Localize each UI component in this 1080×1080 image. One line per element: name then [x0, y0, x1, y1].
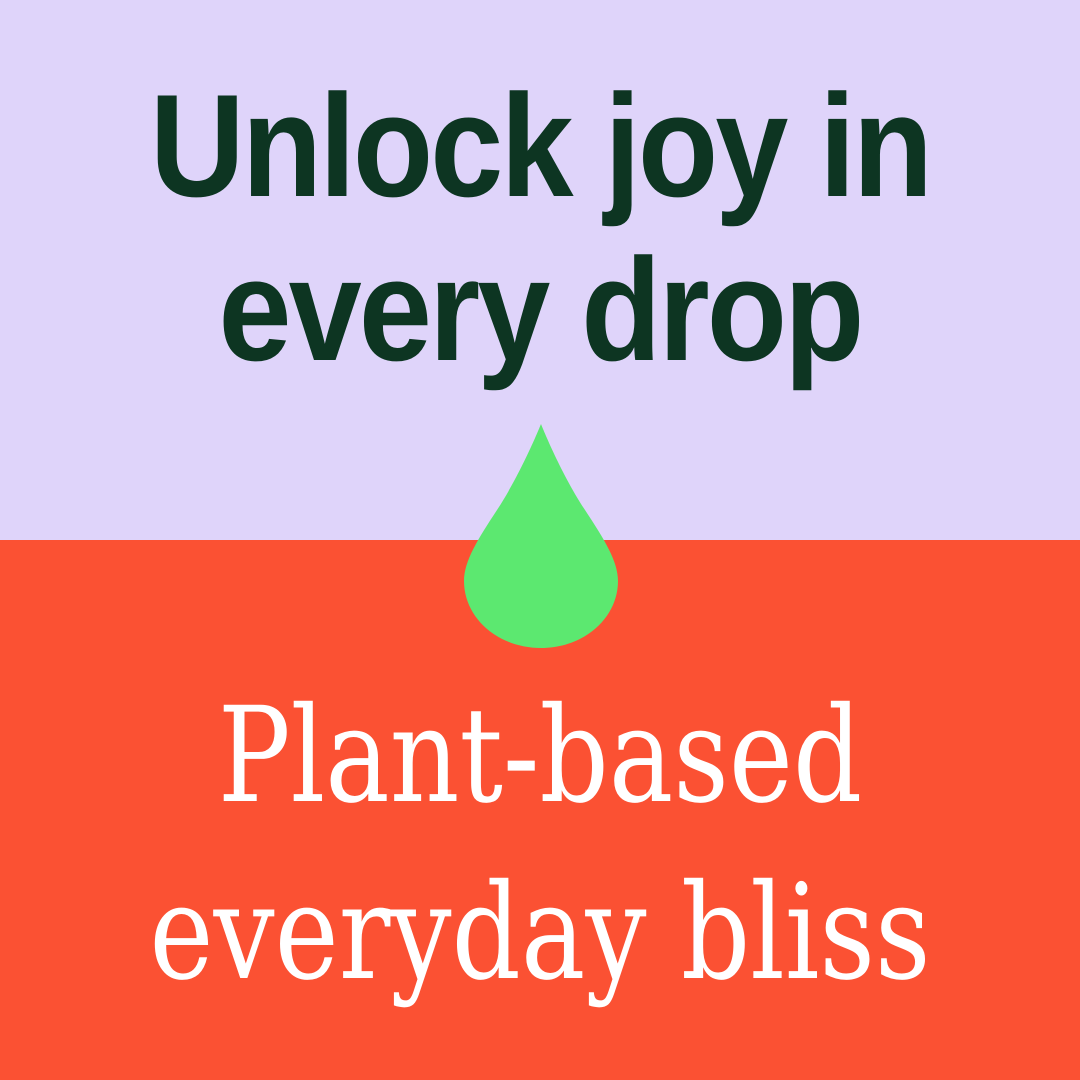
- headline: Unlock joy in every drop: [54, 64, 1026, 391]
- water-droplet-icon: [464, 424, 618, 648]
- subhead-line-1: Plant-based: [97, 668, 983, 845]
- subhead-line-2: everyday bliss: [97, 845, 983, 1022]
- headline-line-1: Unlock joy in: [54, 64, 1026, 228]
- poster-canvas: Unlock joy in every drop Plant-based eve…: [0, 0, 1080, 1080]
- subhead: Plant-based everyday bliss: [97, 668, 983, 1022]
- headline-line-2: every drop: [54, 228, 1026, 392]
